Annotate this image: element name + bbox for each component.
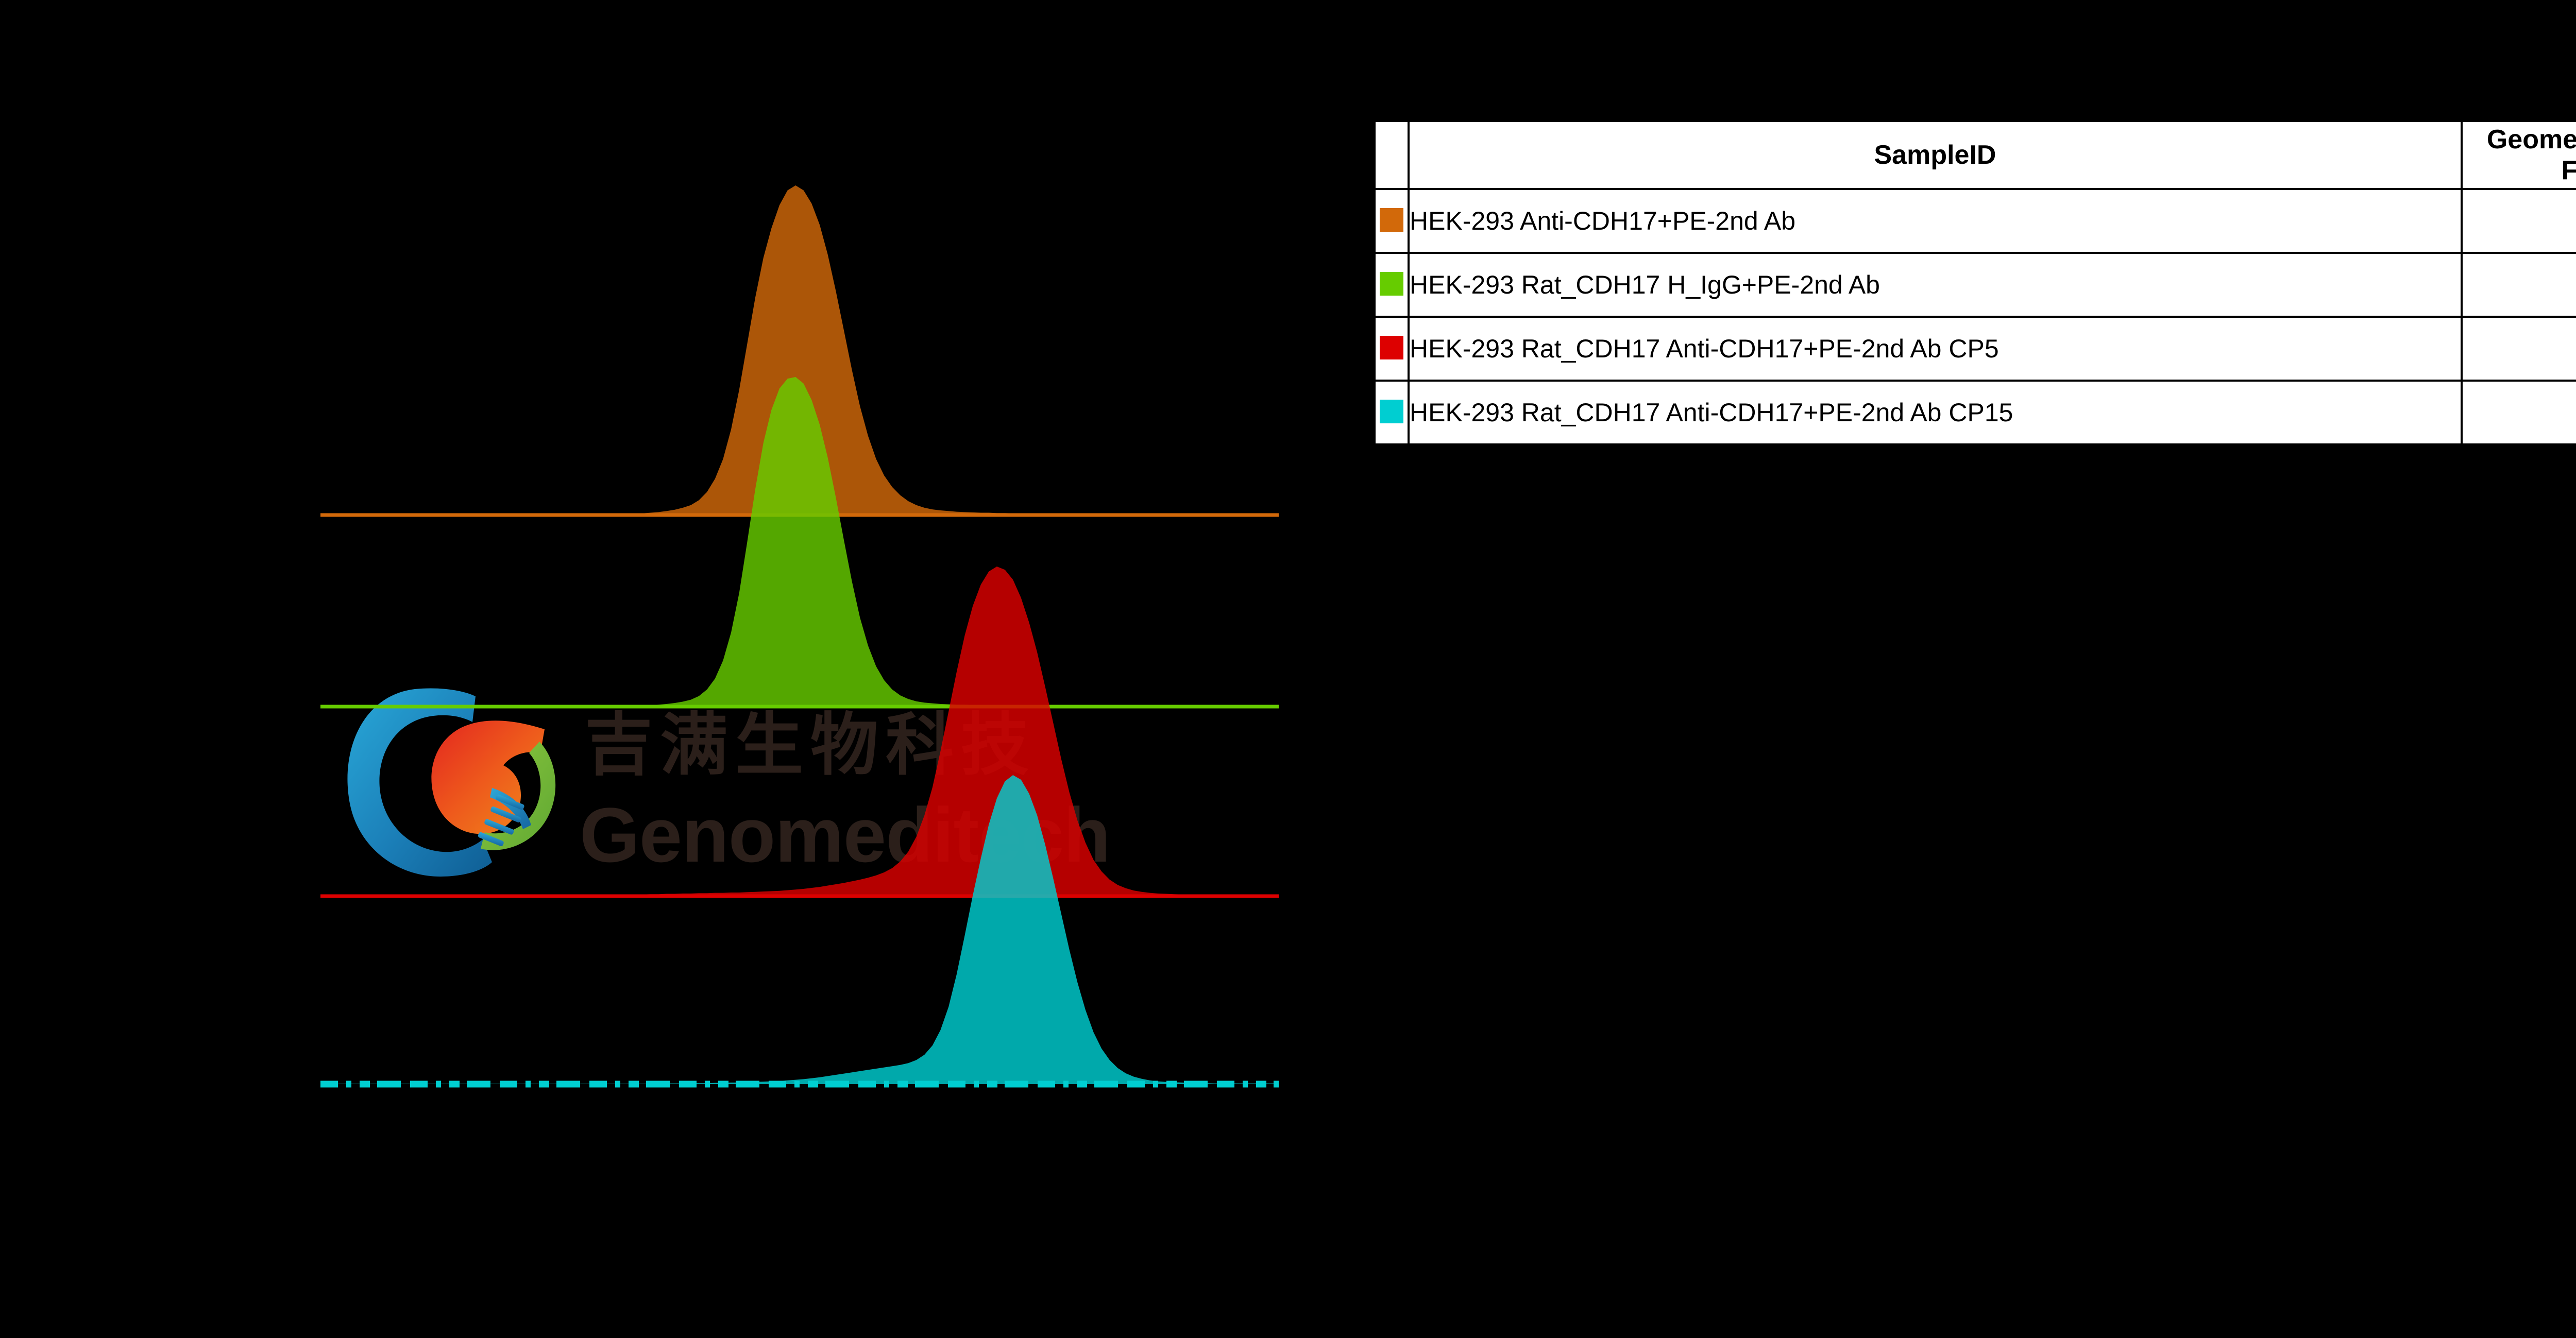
table-row: HEK-293 Anti-CDH17+PE-2nd Ab1869	[1375, 189, 2576, 253]
header-swatch-blank	[1375, 121, 1409, 190]
legend-swatch-cell	[1375, 189, 1409, 253]
table-row: HEK-293 Rat_CDH17 Anti-CDH17+PE-2nd Ab C…	[1375, 381, 2576, 445]
geometric-mean-cell: 1869	[2462, 189, 2576, 253]
color-swatch-icon	[1380, 400, 1403, 423]
color-swatch-icon	[1380, 336, 1403, 359]
table-header-row: SampleID Geometric Mean : FL7-H	[1375, 121, 2576, 190]
sample-id-cell: HEK-293 Rat_CDH17 H_IgG+PE-2nd Ab	[1409, 253, 2462, 317]
legend-swatch-cell	[1375, 381, 1409, 445]
histogram-svg	[0, 0, 1319, 1338]
histogram-plot-panel: 吉满生物科技 Genomeditech	[0, 0, 1319, 1338]
sample-id-cell: HEK-293 Rat_CDH17 Anti-CDH17+PE-2nd Ab C…	[1409, 317, 2462, 381]
legend-swatch-cell	[1375, 317, 1409, 381]
color-swatch-icon	[1380, 272, 1403, 296]
header-geometric-mean: Geometric Mean : FL7-H	[2462, 121, 2576, 190]
geometric-mean-cell: 70487	[2462, 381, 2576, 445]
geometric-mean-cell: 74436	[2462, 317, 2576, 381]
header-sampleid: SampleID	[1409, 121, 2462, 190]
histogram-curve-1	[320, 377, 1279, 707]
legend-swatch-cell	[1375, 253, 1409, 317]
sample-id-cell: HEK-293 Rat_CDH17 Anti-CDH17+PE-2nd Ab C…	[1409, 381, 2462, 445]
table-row: HEK-293 Rat_CDH17 H_IgG+PE-2nd Ab1672	[1375, 253, 2576, 317]
geometric-mean-cell: 1672	[2462, 253, 2576, 317]
statistics-table: SampleID Geometric Mean : FL7-H HEK-293 …	[1373, 119, 2576, 446]
histogram-curve-3	[320, 775, 1279, 1084]
table-row: HEK-293 Rat_CDH17 Anti-CDH17+PE-2nd Ab C…	[1375, 317, 2576, 381]
sample-id-cell: HEK-293 Anti-CDH17+PE-2nd Ab	[1409, 189, 2462, 253]
color-swatch-icon	[1380, 208, 1403, 232]
